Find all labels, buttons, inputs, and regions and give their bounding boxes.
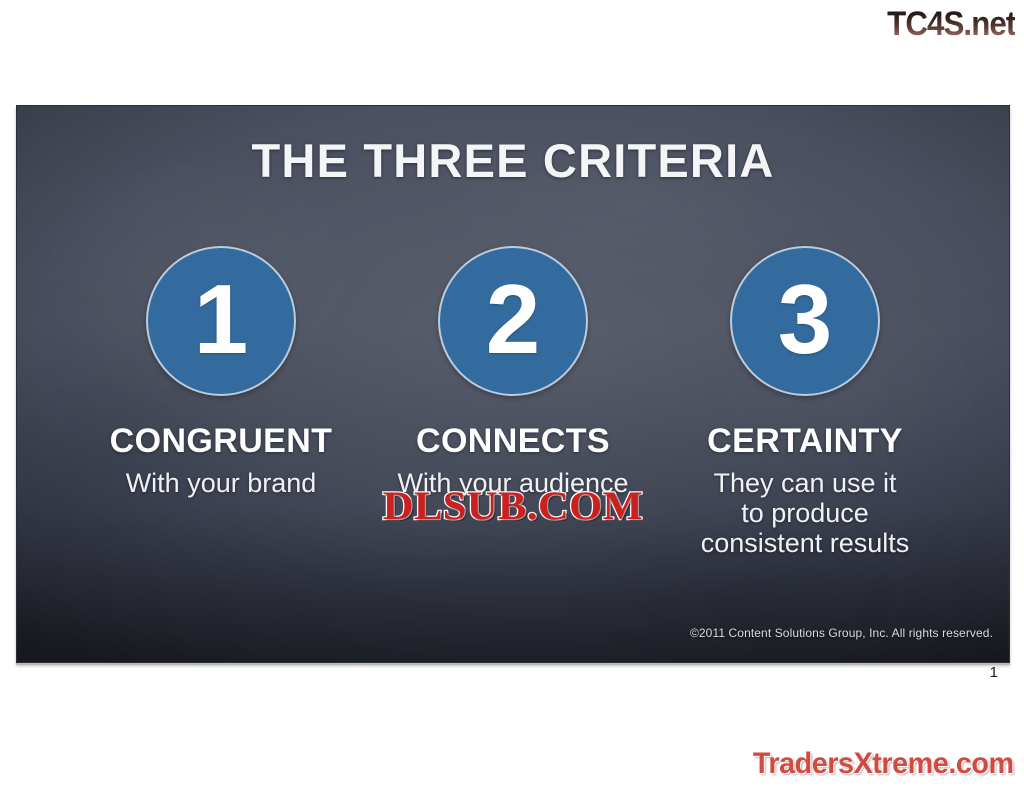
slide-title: THE THREE CRITERIA bbox=[17, 133, 1009, 188]
criterion-title-2: CONNECTS bbox=[373, 422, 653, 460]
page-number: 1 bbox=[990, 664, 998, 681]
criteria-list: 1 CONGRUENT With your brand 2 CONNECTS W… bbox=[65, 246, 961, 558]
criterion-number-badge-3: 3 bbox=[730, 246, 880, 396]
criterion-number-3: 3 bbox=[778, 270, 833, 368]
criterion-title-3: CERTAINTY bbox=[665, 422, 945, 460]
presentation-slide: THE THREE CRITERIA 1 CONGRUENT With your… bbox=[16, 105, 1010, 663]
criterion-title-1: CONGRUENT bbox=[81, 422, 361, 460]
tradersxtreme-brand-logo: TradersXtreme.com bbox=[753, 747, 1014, 781]
criterion-number-1: 1 bbox=[194, 270, 249, 368]
criterion-number-badge-2: 2 bbox=[438, 246, 588, 396]
criterion-subtitle-1: With your brand bbox=[81, 468, 361, 498]
criterion-item-3: 3 CERTAINTY They can use it to produce c… bbox=[665, 246, 945, 558]
criterion-subtitle-3: They can use it to produce consistent re… bbox=[665, 468, 945, 558]
criterion-number-badge-1: 1 bbox=[146, 246, 296, 396]
criterion-item-1: 1 CONGRUENT With your brand bbox=[81, 246, 361, 498]
criterion-item-2: 2 CONNECTS With your audience bbox=[373, 246, 653, 498]
tc4s-site-logo: TC4S.net bbox=[887, 4, 1015, 44]
criterion-number-2: 2 bbox=[486, 270, 541, 368]
copyright-notice: ©2011 Content Solutions Group, Inc. All … bbox=[690, 626, 993, 640]
criterion-subtitle-2: With your audience bbox=[373, 468, 653, 498]
